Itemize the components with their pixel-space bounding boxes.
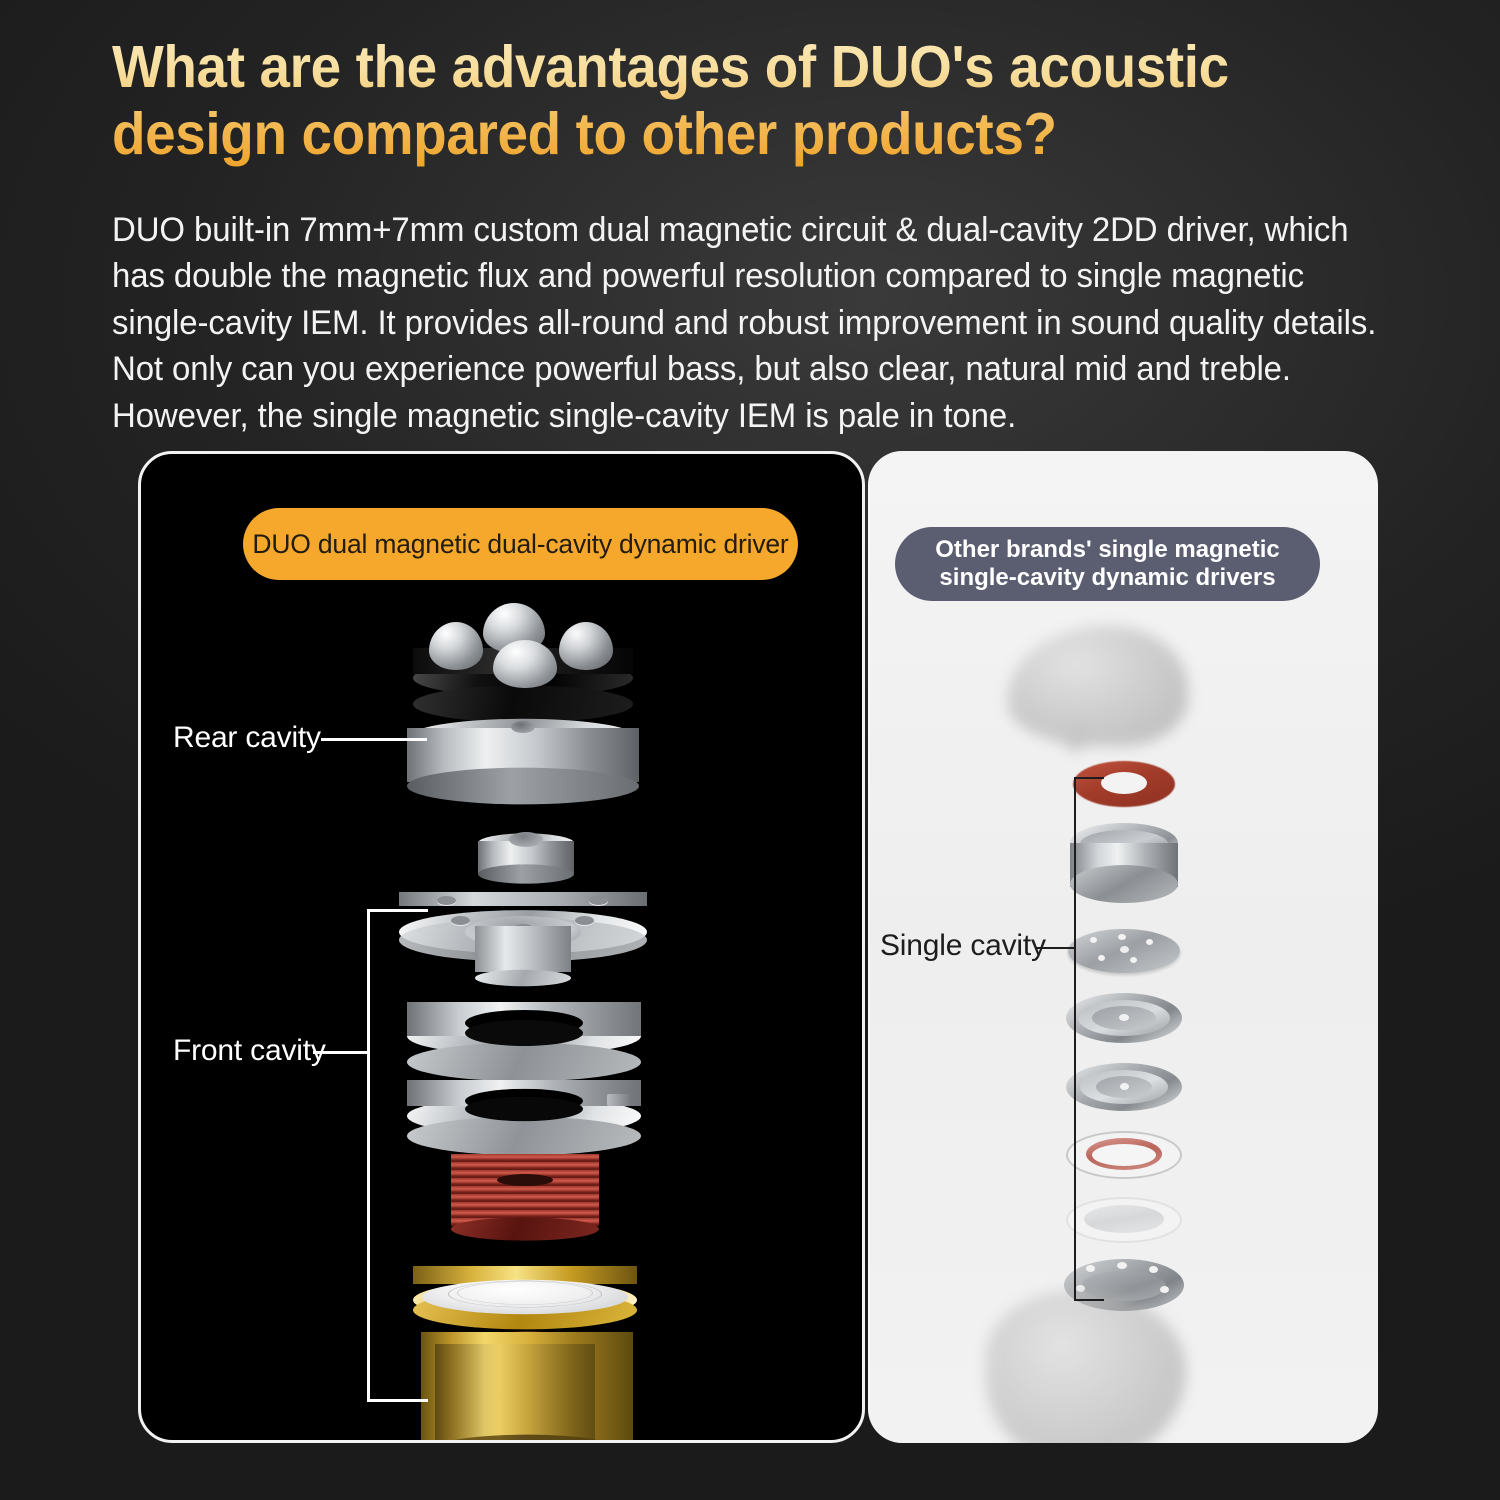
callout-rear-cavity-label: Rear cavity: [173, 721, 321, 754]
callout-single-cavity: Single cavity: [880, 929, 1046, 963]
other-brands-panel: Other brands' single magnetic single-cav…: [868, 451, 1378, 1443]
part-rear-cavity-cylinder: [407, 700, 639, 820]
callout-front-cavity-label: Front cavity: [173, 1034, 326, 1067]
callout-single-cavity-label: Single cavity: [880, 929, 1046, 962]
page-title: What are the advantages of DUO's acousti…: [112, 34, 1340, 167]
part-earphone-shell-top: [1008, 626, 1188, 746]
other-brands-badge: Other brands' single magnetic single-cav…: [895, 527, 1320, 601]
part-magnet-cap-plate: [413, 600, 633, 710]
part-spacer-ring-upper: [407, 988, 641, 1080]
callout-front-cavity: Front cavity: [173, 1034, 326, 1068]
bracket-single-cavity: [1074, 777, 1104, 1301]
part-shell-stem-top: [1066, 723, 1082, 753]
body-paragraph: DUO built-in 7mm+7mm custom dual magneti…: [112, 207, 1382, 439]
duo-badge: DUO dual magnetic dual-cavity dynamic dr…: [243, 508, 798, 580]
part-voice-coil: [451, 1144, 599, 1250]
page-title-line1: What are the advantages of DUO's acousti…: [112, 34, 1229, 100]
part-earphone-shell-bottom: [986, 1291, 1186, 1443]
bracket-front-cavity: [367, 909, 428, 1402]
part-spacer-ring-lower: [407, 1068, 641, 1152]
leader-line-front-cavity: [313, 1051, 369, 1054]
infographic-page: What are the advantages of DUO's acousti…: [0, 0, 1500, 1500]
duo-driver-panel: DUO dual magnetic dual-cavity dynamic dr…: [138, 451, 865, 1443]
page-title-line2: design compared to other products?: [112, 101, 1057, 167]
leader-line-rear-cavity: [321, 738, 427, 741]
other-brands-badge-label: Other brands' single magnetic single-cav…: [911, 536, 1304, 592]
leader-line-single-cavity: [1036, 947, 1076, 949]
callout-rear-cavity: Rear cavity: [173, 721, 321, 755]
duo-badge-label: DUO dual magnetic dual-cavity dynamic dr…: [252, 529, 788, 560]
part-gold-housing-cup: [421, 1310, 633, 1443]
